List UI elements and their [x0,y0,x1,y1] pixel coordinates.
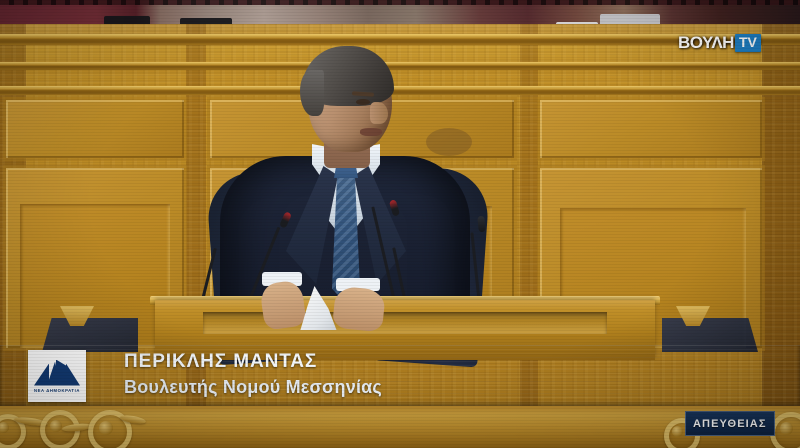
broadcast-frame: ΒΟΥΛΗ TV ΝΕΑ ΔΗΜΟΚΡΑΤΙΑ ΠΕΡΙΚΛΗΣ ΜΑΝΤΑΣ … [0,0,800,448]
wall-panel [6,100,184,158]
carved-scroll-center [780,422,793,435]
lower-third-banner [0,345,800,406]
lower-third-text: ΠΕΡΙΚΛΗΣ ΜΑΝΤΑΣ Βουλευτής Νομού Μεσσηνία… [124,349,382,400]
nd-logo-mark [34,360,80,386]
wall-panel [540,100,762,158]
speaker-mouth [360,128,382,136]
party-logo-subtitle: ΝΕΑ ΔΗΜΟΚΡΑΤΙΑ [34,388,80,393]
carved-scroll-center [50,420,62,432]
speaker-nose [370,102,388,124]
party-logo: ΝΕΑ ΔΗΜΟΚΡΑΤΙΑ [28,350,86,402]
speaker-eye [356,99,370,105]
live-badge: ΑΠΕΥΘΕΙΑΣ [685,411,775,436]
live-badge-label: ΑΠΕΥΘΕΙΑΣ [693,418,767,430]
speaker-role: Βουλευτής Νομού Μεσσηνίας [124,374,382,400]
carved-scroll-center [99,421,113,435]
speaker-hair-side [300,70,324,116]
carved-scroll-center [672,426,683,437]
speaker-name: ΠΕΡΙΚΛΗΣ ΜΑΝΤΑΣ [124,349,382,374]
channel-logo-word: ΒΟΥΛΗ [678,33,734,53]
channel-logo: ΒΟΥΛΗ TV [678,33,761,53]
channel-logo-tv-badge: TV [735,34,761,52]
